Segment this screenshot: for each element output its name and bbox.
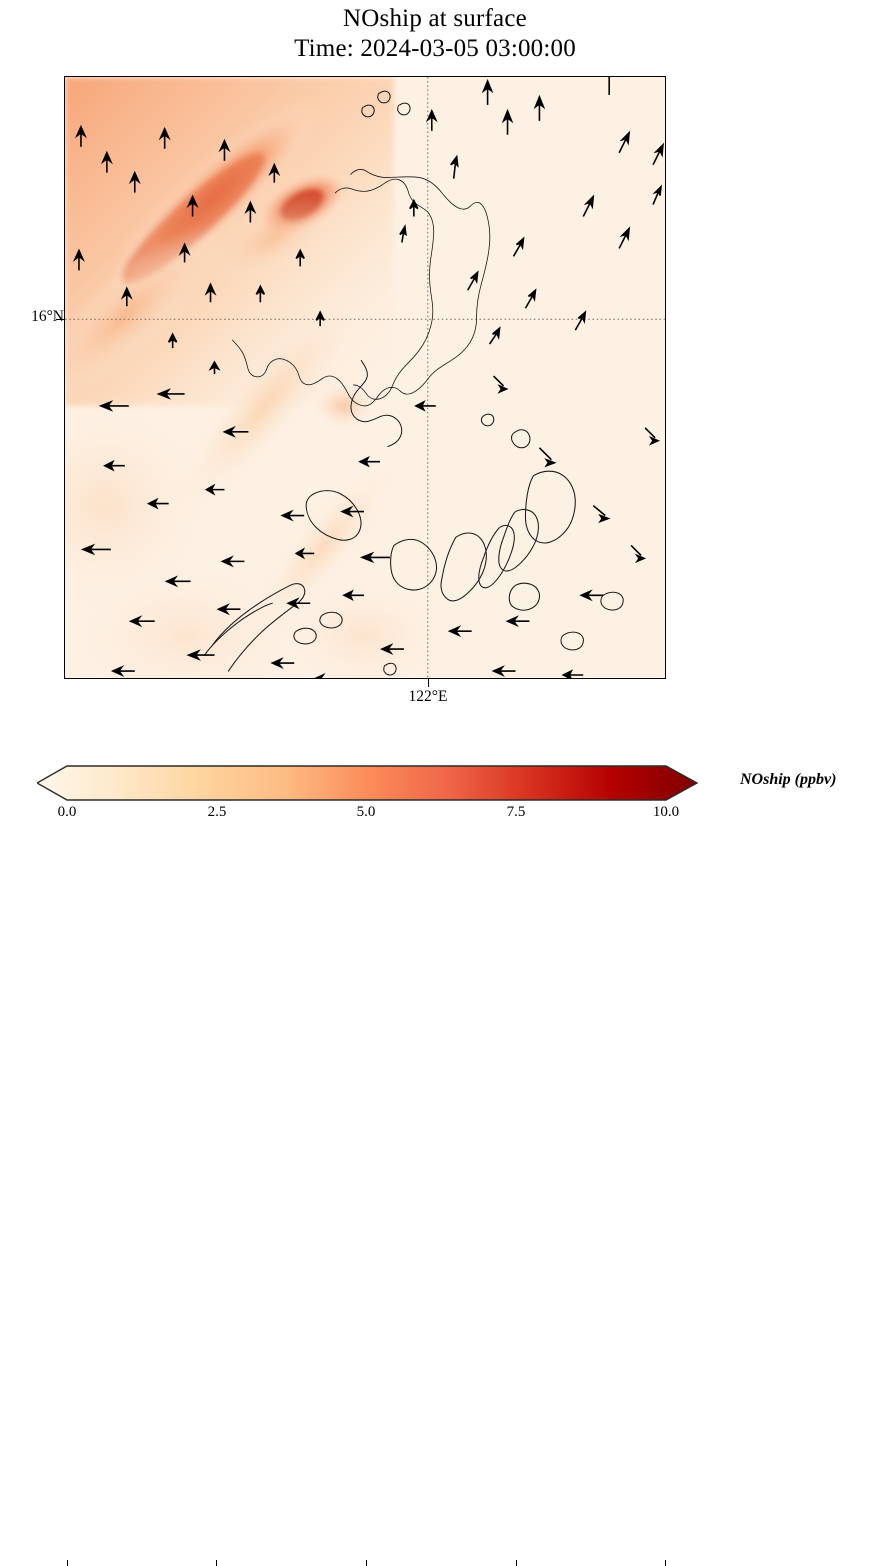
figure-title-block: NOship at surface Time: 2024-03-05 03:00… [0,4,870,64]
colorbar-tick-label-2: 5.0 [326,804,406,821]
colorbar-tick-4 [665,1560,666,1566]
colorbar-label: NOship (ppbv) [740,771,836,789]
map-panel[interactable] [64,76,666,679]
colorbar-tick-label-4: 10.0 [626,804,706,821]
figure-subtitle-time: Time: 2024-03-05 03:00:00 [0,34,870,64]
latitude-axis-label: 16°N [4,308,64,326]
colorbar-tick-3 [516,1560,517,1566]
colorbar-tick-label-0: 0.0 [27,804,107,821]
colorbar-tick-label-3: 7.5 [476,804,556,821]
colorbar-gradient-bar [37,766,697,800]
colorbar-tick-label-1: 2.5 [177,804,257,821]
colorbar-svg [37,760,699,806]
page-title: NOship at surface [0,4,870,34]
colorbar-tick-0 [67,1560,68,1566]
colorbar-tick-2 [366,1560,367,1566]
longitude-axis-label: 122°E [378,688,478,706]
map-canvas [65,77,665,678]
longitude-tick-mark [428,679,429,687]
colorbar-tick-1 [216,1560,217,1566]
colorbar[interactable] [37,760,699,806]
